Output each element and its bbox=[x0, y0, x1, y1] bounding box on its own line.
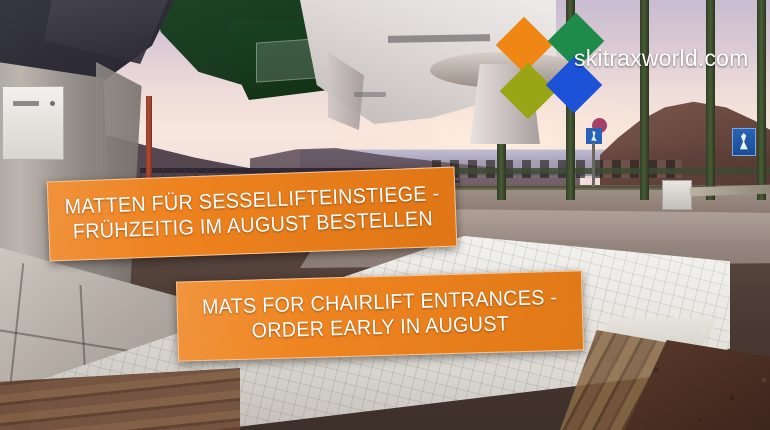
banner-german[interactable]: MATTEN FÜR SESSELLIFTEINSTIEGE - FRÜHZEI… bbox=[47, 167, 458, 262]
control-box-logo bbox=[13, 101, 39, 106]
banner-english-text: MATS FOR CHAIRLIFT ENTRANCES - ORDER EAR… bbox=[202, 286, 559, 345]
control-box-indicator bbox=[50, 101, 55, 106]
control-box bbox=[2, 86, 64, 160]
green-railing-top bbox=[430, 168, 770, 174]
skier-sign-left-icon bbox=[586, 128, 602, 144]
equipment-box bbox=[662, 180, 692, 210]
banner-german-text: MATTEN FÜR SESSELLIFTEINSTIEGE - FRÜHZEI… bbox=[64, 182, 441, 245]
brand-text: skitraxworld.com bbox=[574, 45, 748, 72]
sign-pole bbox=[592, 143, 595, 187]
machinery-handle bbox=[354, 92, 386, 97]
screenshot-root: skitraxworld.com MATTEN FÜR SESSELLIFTEI… bbox=[0, 0, 770, 430]
watermark-logo[interactable]: skitraxworld.com bbox=[500, 15, 770, 105]
banner-english[interactable]: MATS FOR CHAIRLIFT ENTRANCES - ORDER EAR… bbox=[176, 270, 584, 361]
skier-sign-right-icon bbox=[732, 128, 756, 156]
